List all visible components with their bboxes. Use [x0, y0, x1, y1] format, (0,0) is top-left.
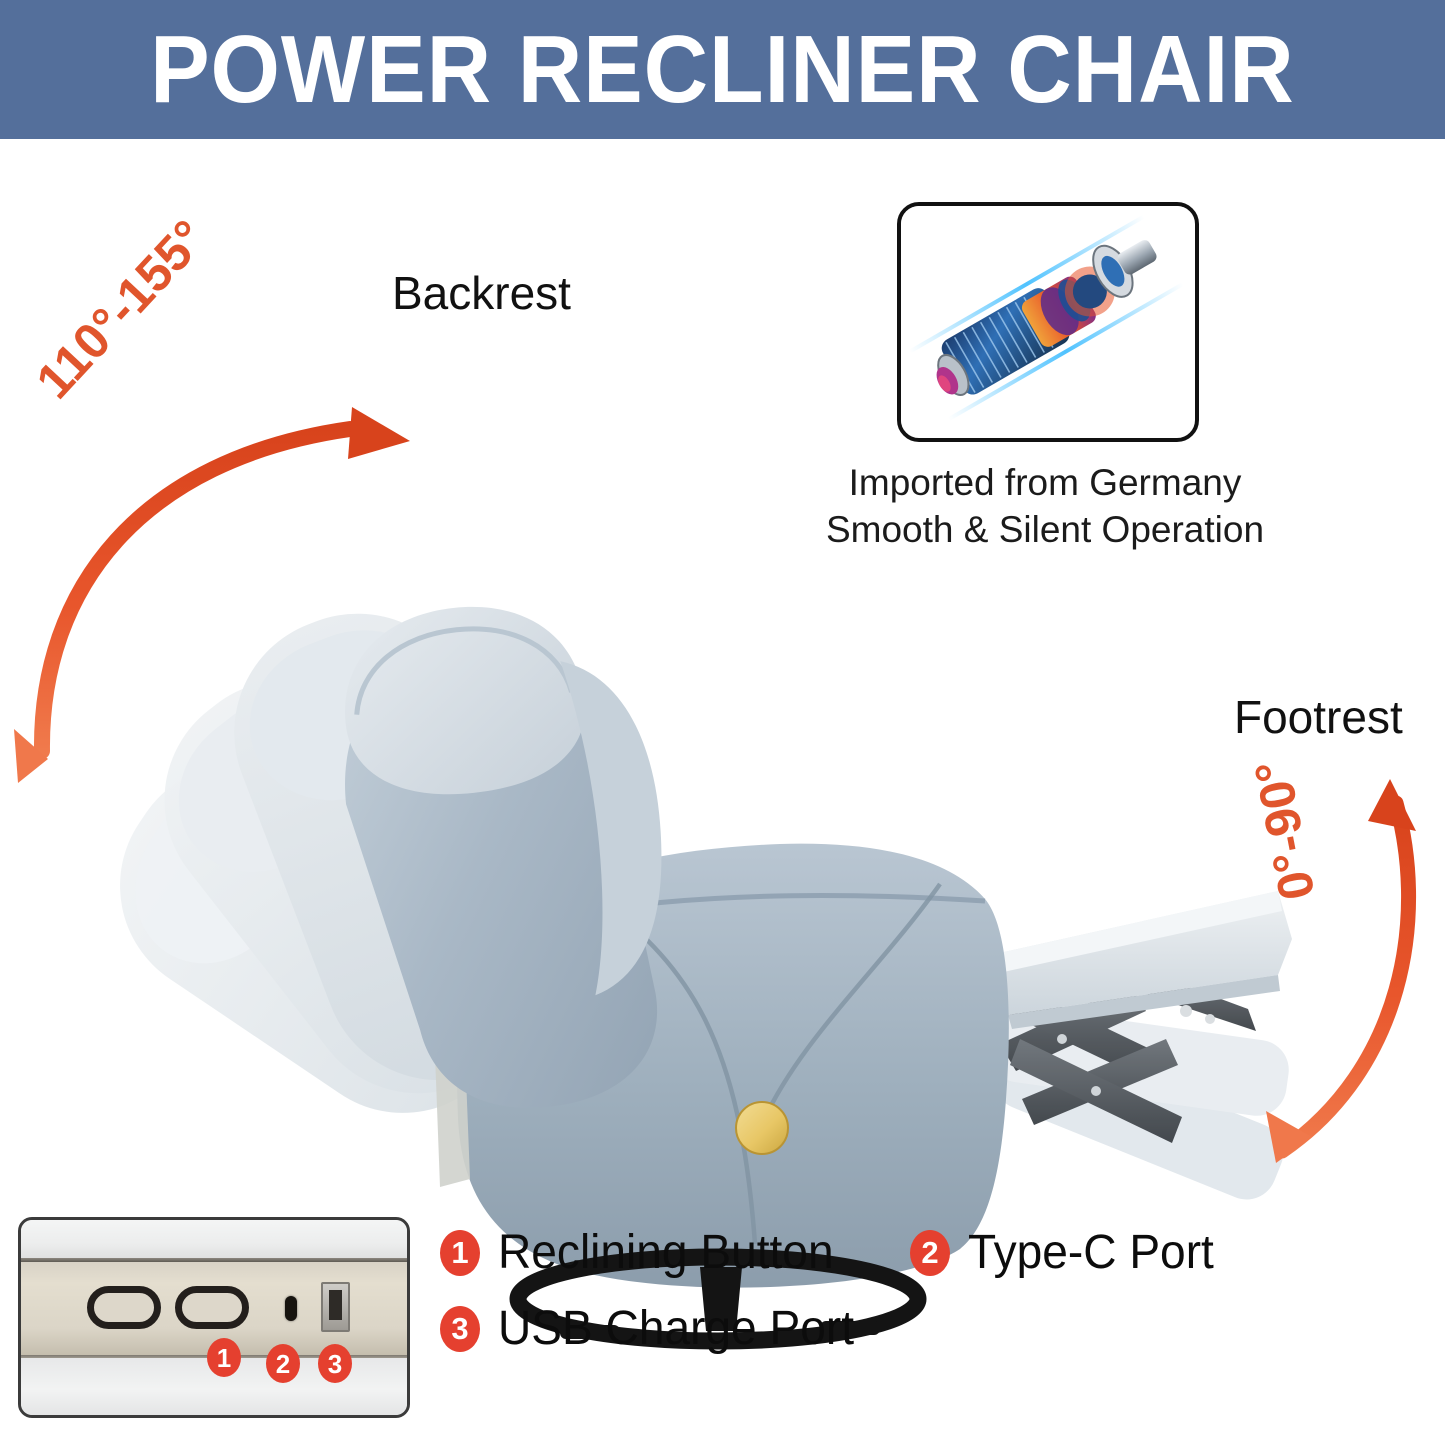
panel-callout-2: 2 [266, 1344, 300, 1383]
legend: 1 Reclining Button 2 Type-C Port 3 USB C… [440, 1229, 1400, 1381]
legend-item-type-c-port: 2 Type-C Port [910, 1229, 1350, 1277]
legend-label-3: USB Charge Port [498, 1305, 854, 1353]
legend-row-2: 3 USB Charge Port [440, 1305, 1400, 1353]
page-title: POWER RECLINER CHAIR [150, 22, 1295, 118]
legend-item-reclining-button: 1 Reclining Button [440, 1229, 910, 1277]
reclining-button-left[interactable] [87, 1286, 161, 1329]
control-panel-inset: 1 2 3 [18, 1217, 410, 1418]
motor-caption-line1: Imported from Germany [800, 459, 1290, 506]
legend-badge-2: 2 [910, 1230, 950, 1276]
header-banner: POWER RECLINER CHAIR [0, 0, 1445, 139]
legend-row-1: 1 Reclining Button 2 Type-C Port [440, 1229, 1400, 1277]
motor-caption-line2: Smooth & Silent Operation [800, 506, 1290, 553]
reclining-button-right[interactable] [175, 1286, 249, 1329]
legend-badge-3: 3 [440, 1306, 480, 1352]
backrest-label: Backrest [392, 270, 571, 316]
type-c-port-icon[interactable] [285, 1296, 297, 1321]
legend-label-1: Reclining Button [498, 1229, 834, 1277]
product-illustration-stage: Backrest 110°-155° Footrest 0°-90° [0, 139, 1445, 1445]
footrest-label: Footrest [1234, 694, 1403, 740]
electric-motor-icon [901, 206, 1187, 430]
usb-a-port-icon[interactable] [321, 1282, 350, 1332]
footrest-pad [995, 891, 1292, 1029]
panel-callout-1: 1 [207, 1338, 241, 1377]
legend-badge-1: 1 [440, 1230, 480, 1276]
panel-callout-3: 3 [318, 1344, 352, 1383]
legend-label-2: Type-C Port [968, 1229, 1214, 1277]
motor-caption: Imported from Germany Smooth & Silent Op… [800, 459, 1290, 554]
legend-item-usb-charge-port: 3 USB Charge Port [440, 1305, 910, 1353]
motor-inset-box [897, 202, 1199, 442]
panel-fabric-top [21, 1220, 407, 1260]
gold-accent-button [736, 1102, 788, 1154]
